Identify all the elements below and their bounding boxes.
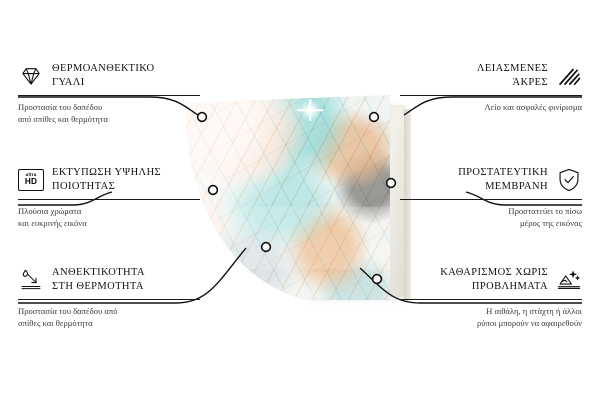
feature-head: ΠΡΟΣΤΑΤΕΥΤΙΚΗ ΜΕΜΒΡΑΝΗ bbox=[400, 166, 582, 194]
feature-title-line2: ΓΥΑΛΙ bbox=[52, 76, 155, 90]
infographic-canvas: ΘΕΡΜΟΑΝΘΕΚΤΙΚΟ ΓΥΑΛΙ Προστασία του δαπέδ… bbox=[0, 0, 600, 400]
feature-desc-line2: μέρος της εικόνας bbox=[400, 217, 582, 229]
feature-head: ΑΝΘΕΚΤΙΚΟΤΗΤΑ ΣΤΗ ΘΕΡΜΟΤΗΤΑ bbox=[18, 266, 200, 294]
feature-title-line2: ΣΤΗ ΘΕΡΜΟΤΗΤΑ bbox=[52, 280, 145, 294]
feature-easy-cleaning[interactable]: ΚΑΘΑΡΙΣΜΟΣ ΧΩΡΙΣ ΠΡΟΒΛΗΜΑΤΑ Η αιθάλη, η … bbox=[400, 266, 582, 330]
connector-dot-2 bbox=[209, 186, 218, 195]
feature-titles: ΕΚΤΥΠΩΣΗ ΥΨΗΛΗΣ ΠΟΙΟΤΗΤΑΣ bbox=[52, 166, 161, 194]
feature-head: ΛΕΙΑΣΜΕΝΕΣ ΆΚΡΕΣ bbox=[400, 62, 582, 90]
feature-titles: ΛΕΙΑΣΜΕΝΕΣ ΆΚΡΕΣ bbox=[477, 62, 548, 90]
feature-desc-line2: από σπίθες και θερμότητα bbox=[18, 113, 200, 125]
feature-title-line2: ΠΡΟΒΛΗΜΑΤΑ bbox=[440, 280, 548, 294]
feature-title-line2: ΠΟΙΟΤΗΤΑΣ bbox=[52, 180, 161, 194]
feature-high-quality-print[interactable]: ultra HD ΕΚΤΥΠΩΣΗ ΥΨΗΛΗΣ ΠΟΙΟΤΗΤΑΣ Πλούσ… bbox=[18, 166, 200, 230]
feature-title-line1: ΑΝΘΕΚΤΙΚΟΤΗΤΑ bbox=[52, 266, 145, 280]
feature-title-line2: ΆΚΡΕΣ bbox=[477, 76, 548, 90]
feature-desc-line2: σπίθες και θερμότητα bbox=[18, 317, 200, 329]
connector-dot-5 bbox=[387, 179, 396, 188]
feature-title-line1: ΠΡΟΣΤΑΤΕΥΤΙΚΗ bbox=[458, 166, 548, 180]
feature-desc-line1: Λείο και ασφαλές φινίρισμα bbox=[400, 101, 582, 113]
feature-desc-line1: Προστασία του δαπέδου από bbox=[18, 305, 200, 317]
feature-title-line1: ΚΑΘΑΡΙΣΜΟΣ ΧΩΡΙΣ bbox=[440, 266, 548, 280]
feature-titles: ΚΑΘΑΡΙΣΜΟΣ ΧΩΡΙΣ ΠΡΟΒΛΗΜΑΤΑ bbox=[440, 266, 548, 294]
feature-heat-resistant-glass[interactable]: ΘΕΡΜΟΑΝΘΕΚΤΙΚΟ ΓΥΑΛΙ Προστασία του δαπέδ… bbox=[18, 62, 200, 126]
wipe-sparkle-icon bbox=[556, 267, 582, 293]
connector-dot-6 bbox=[373, 275, 382, 284]
divider bbox=[18, 199, 200, 200]
diagonal-lines-icon bbox=[556, 63, 582, 89]
feature-desc-line2: και ευκρινής εικόνα bbox=[18, 217, 200, 229]
diamond-icon bbox=[18, 63, 44, 89]
divider bbox=[400, 199, 582, 200]
feature-titles: ΑΝΘΕΚΤΙΚΟΤΗΤΑ ΣΤΗ ΘΕΡΜΟΤΗΤΑ bbox=[52, 266, 145, 294]
divider bbox=[400, 95, 582, 96]
ultra-hd-icon: ultra HD bbox=[18, 169, 44, 191]
feature-head: ΚΑΘΑΡΙΣΜΟΣ ΧΩΡΙΣ ΠΡΟΒΛΗΜΑΤΑ bbox=[400, 266, 582, 294]
divider bbox=[400, 299, 582, 300]
feature-desc-line1: Προστατεύει το πίσω bbox=[400, 205, 582, 217]
feature-heat-durability[interactable]: ΑΝΘΕΚΤΙΚΟΤΗΤΑ ΣΤΗ ΘΕΡΜΟΤΗΤΑ Προστασία το… bbox=[18, 266, 200, 330]
shield-check-icon bbox=[556, 167, 582, 193]
ultra-hd-icon-bottom: HD bbox=[25, 178, 37, 186]
connector-dot-4 bbox=[370, 113, 379, 122]
feature-title-line1: ΕΚΤΥΠΩΣΗ ΥΨΗΛΗΣ bbox=[52, 166, 161, 180]
divider bbox=[18, 95, 200, 96]
feature-desc-line1: Προστασία του δαπέδου bbox=[18, 101, 200, 113]
connector-dot-3 bbox=[262, 243, 271, 252]
feature-titles: ΠΡΟΣΤΑΤΕΥΤΙΚΗ ΜΕΜΒΡΑΝΗ bbox=[458, 166, 548, 194]
feature-title-line1: ΛΕΙΑΣΜΕΝΕΣ bbox=[477, 62, 548, 76]
feature-desc-line1: Η αιθάλη, η στάχτη ή άλλοι bbox=[400, 305, 582, 317]
feature-desc-line1: Πλούσια χρώματα bbox=[18, 205, 200, 217]
feature-head: ΘΕΡΜΟΑΝΘΕΚΤΙΚΟ ΓΥΑΛΙ bbox=[18, 62, 200, 90]
feature-desc-line2: ρύποι μπορούν να αφαιρεθούν bbox=[400, 317, 582, 329]
feature-head: ultra HD ΕΚΤΥΠΩΣΗ ΥΨΗΛΗΣ ΠΟΙΟΤΗΤΑΣ bbox=[18, 166, 200, 194]
feature-title-line1: ΘΕΡΜΟΑΝΘΕΚΤΙΚΟ bbox=[52, 62, 155, 76]
feature-titles: ΘΕΡΜΟΑΝΘΕΚΤΙΚΟ ΓΥΑΛΙ bbox=[52, 62, 155, 90]
flame-deflect-icon bbox=[18, 267, 44, 293]
feature-protective-membrane[interactable]: ΠΡΟΣΤΑΤΕΥΤΙΚΗ ΜΕΜΒΡΑΝΗ Προστατεύει το πί… bbox=[400, 166, 582, 230]
feature-title-line2: ΜΕΜΒΡΑΝΗ bbox=[458, 180, 548, 194]
feature-smoothed-edges[interactable]: ΛΕΙΑΣΜΕΝΕΣ ΆΚΡΕΣ Λείο και ασφαλές φινίρι… bbox=[400, 62, 582, 113]
divider bbox=[18, 299, 200, 300]
